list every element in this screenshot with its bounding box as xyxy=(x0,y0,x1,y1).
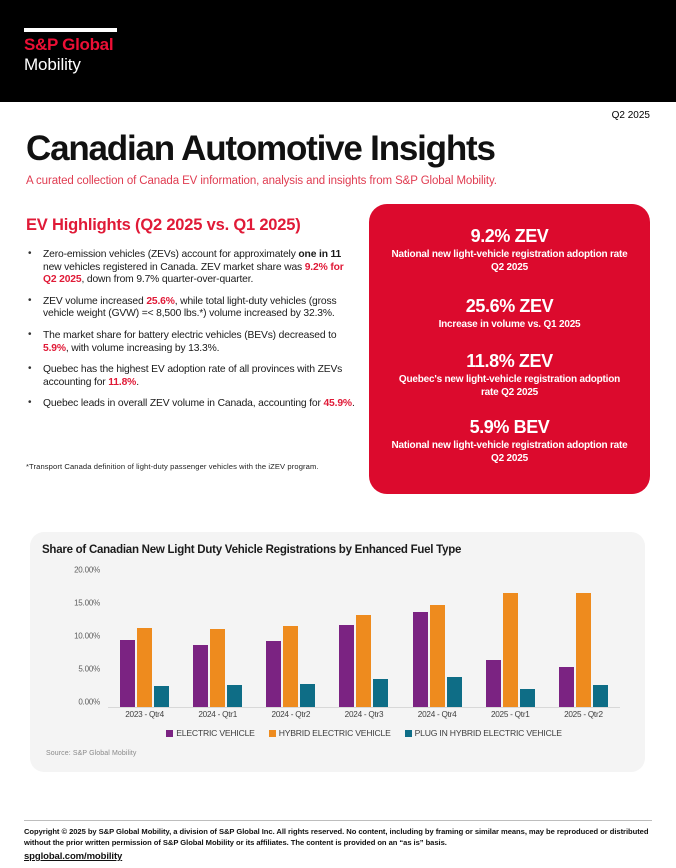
footer-copyright: Copyright © 2025 by S&P Global Mobility,… xyxy=(24,827,654,848)
legend-item[interactable]: HYBRID ELECTRIC VEHICLE xyxy=(269,728,391,738)
stat-item: 5.9% BEVNational new light-vehicle regis… xyxy=(383,415,636,465)
chart-bar xyxy=(137,628,152,707)
logo-secondary-text: Mobility xyxy=(24,54,117,75)
chart-panel: Share of Canadian New Light Duty Vehicle… xyxy=(30,532,645,772)
footer-website-link[interactable]: spglobal.com/mobility xyxy=(24,851,122,862)
chart-bar xyxy=(486,660,501,707)
x-axis-tick-label: 2023 - Qtr4 xyxy=(108,710,181,719)
legend-swatch-icon xyxy=(166,730,173,737)
y-axis-tick-label: 10.00% xyxy=(74,632,100,641)
bullet-text-part: 25.6% xyxy=(146,296,174,307)
chart-bar xyxy=(576,593,591,707)
stat-value: 11.8% ZEV xyxy=(383,349,636,373)
chart-bar xyxy=(559,667,574,707)
chart-bar xyxy=(283,626,298,707)
y-axis-tick-label: 0.00% xyxy=(78,698,100,707)
chart-y-axis: 20.00%15.00%10.00%5.00%0.00% xyxy=(30,570,108,712)
chart-bar xyxy=(430,605,445,707)
document-page: S&P Global Mobility Q2 2025 Canadian Aut… xyxy=(0,0,676,868)
highlight-bullet: ZEV volume increased 25.6%, while total … xyxy=(26,296,358,321)
chart-bar-group xyxy=(108,575,181,707)
highlight-bullet: Quebec has the highest EV adoption rate … xyxy=(26,364,358,389)
legend-swatch-icon xyxy=(269,730,276,737)
y-axis-tick-label: 15.00% xyxy=(74,599,100,608)
legend-label: ELECTRIC VEHICLE xyxy=(176,728,254,738)
legend-item[interactable]: PLUG IN HYBRID ELECTRIC VEHICLE xyxy=(405,728,562,738)
bullet-text-part: Quebec has the highest EV adoption rate … xyxy=(43,364,342,388)
x-axis-tick-label: 2025 - Qtr2 xyxy=(547,710,620,719)
chart-bar xyxy=(300,684,315,707)
chart-legend: ELECTRIC VEHICLEHYBRID ELECTRIC VEHICLEP… xyxy=(108,728,620,738)
highlights-footnote: *Transport Canada definition of light-du… xyxy=(26,462,356,472)
stat-item: 11.8% ZEVQuebec's new light-vehicle regi… xyxy=(383,349,636,399)
stat-description: National new light-vehicle registration … xyxy=(383,439,636,465)
logo-rule xyxy=(24,28,117,32)
chart-axis-line xyxy=(108,707,620,708)
ev-highlights-bullet-list: Zero-emission vehicles (ZEVs) account fo… xyxy=(26,249,358,420)
chart-x-axis: 2023 - Qtr42024 - Qtr12024 - Qtr22024 - … xyxy=(108,710,620,719)
legend-swatch-icon xyxy=(405,730,412,737)
bullet-text-part: 5.9% xyxy=(43,343,66,354)
chart-bar xyxy=(120,640,135,707)
chart-bar-group xyxy=(474,575,547,707)
legend-label: HYBRID ELECTRIC VEHICLE xyxy=(279,728,391,738)
chart-plot-area xyxy=(108,575,620,707)
highlight-bullet: The market share for battery electric ve… xyxy=(26,330,358,355)
stat-item: 9.2% ZEVNational new light-vehicle regis… xyxy=(383,224,636,274)
chart-bar xyxy=(373,679,388,707)
x-axis-tick-label: 2025 - Qtr1 xyxy=(474,710,547,719)
chart-bar-group xyxy=(547,575,620,707)
chart-bar xyxy=(339,625,354,707)
x-axis-tick-label: 2024 - Qtr1 xyxy=(181,710,254,719)
bullet-text-part: ZEV volume increased xyxy=(43,296,146,307)
legend-label: PLUG IN HYBRID ELECTRIC VEHICLE xyxy=(415,728,562,738)
header-bar: S&P Global Mobility xyxy=(0,0,676,102)
chart-source: Source: S&P Global Mobility xyxy=(46,750,137,757)
chart-bar xyxy=(520,689,535,707)
chart-bar xyxy=(593,685,608,707)
legend-item[interactable]: ELECTRIC VEHICLE xyxy=(166,728,254,738)
bullet-text-part: new vehicles registered in Canada. ZEV m… xyxy=(43,262,305,273)
logo-primary-text: S&P Global xyxy=(24,35,117,54)
quarter-tag: Q2 2025 xyxy=(612,110,650,121)
highlight-bullet: Quebec leads in overall ZEV volume in Ca… xyxy=(26,398,358,411)
bullet-text-part: one in 11 xyxy=(298,249,341,260)
chart-bar xyxy=(154,686,169,707)
stat-value: 9.2% ZEV xyxy=(383,224,636,248)
bullet-text-part: . xyxy=(352,398,355,409)
key-stats-card: 9.2% ZEVNational new light-vehicle regis… xyxy=(369,204,650,494)
sp-global-mobility-logo: S&P Global Mobility xyxy=(24,28,117,75)
chart-bar xyxy=(193,645,208,707)
bullet-text-part: , with volume increasing by 13.3%. xyxy=(66,343,219,354)
chart-bar xyxy=(447,677,462,707)
page-subtitle: A curated collection of Canada EV inform… xyxy=(26,175,497,187)
y-axis-tick-label: 5.00% xyxy=(78,665,100,674)
highlight-bullet: Zero-emission vehicles (ZEVs) account fo… xyxy=(26,249,358,287)
bullet-text-part: . xyxy=(136,377,139,388)
page-title: Canadian Automotive Insights xyxy=(26,129,495,169)
chart-bar xyxy=(356,615,371,707)
footer-divider xyxy=(24,820,652,821)
chart-bar xyxy=(266,641,281,707)
chart-bar xyxy=(503,593,518,707)
stat-description: Increase in volume vs. Q1 2025 xyxy=(383,318,636,331)
stat-value: 25.6% ZEV xyxy=(383,294,636,318)
stat-value: 5.9% BEV xyxy=(383,415,636,439)
bullet-text-part: The market share for battery electric ve… xyxy=(43,330,336,341)
x-axis-tick-label: 2024 - Qtr4 xyxy=(401,710,474,719)
chart-bar xyxy=(210,629,225,707)
chart-bar-group xyxy=(181,575,254,707)
chart-bar-group xyxy=(254,575,327,707)
bullet-text-part: Quebec leads in overall ZEV volume in Ca… xyxy=(43,398,323,409)
chart-title: Share of Canadian New Light Duty Vehicle… xyxy=(42,544,461,556)
chart-bar xyxy=(227,685,242,707)
y-axis-tick-label: 20.00% xyxy=(74,566,100,575)
bullet-text-part: 45.9% xyxy=(323,398,351,409)
ev-highlights-heading: EV Highlights (Q2 2025 vs. Q1 2025) xyxy=(26,216,301,235)
stat-description: National new light-vehicle registration … xyxy=(383,248,636,274)
chart-bar-group xyxy=(401,575,474,707)
chart-bar xyxy=(413,612,428,707)
stat-description: Quebec's new light-vehicle registration … xyxy=(383,373,636,399)
bullet-text-part: , down from 9.7% quarter-over-quarter. xyxy=(81,274,253,285)
chart-bar-group xyxy=(327,575,400,707)
bullet-text-part: Zero-emission vehicles (ZEVs) account fo… xyxy=(43,249,298,260)
x-axis-tick-label: 2024 - Qtr2 xyxy=(254,710,327,719)
stat-item: 25.6% ZEVIncrease in volume vs. Q1 2025 xyxy=(383,294,636,331)
bullet-text-part: 11.8% xyxy=(108,377,136,388)
x-axis-tick-label: 2024 - Qtr3 xyxy=(327,710,400,719)
